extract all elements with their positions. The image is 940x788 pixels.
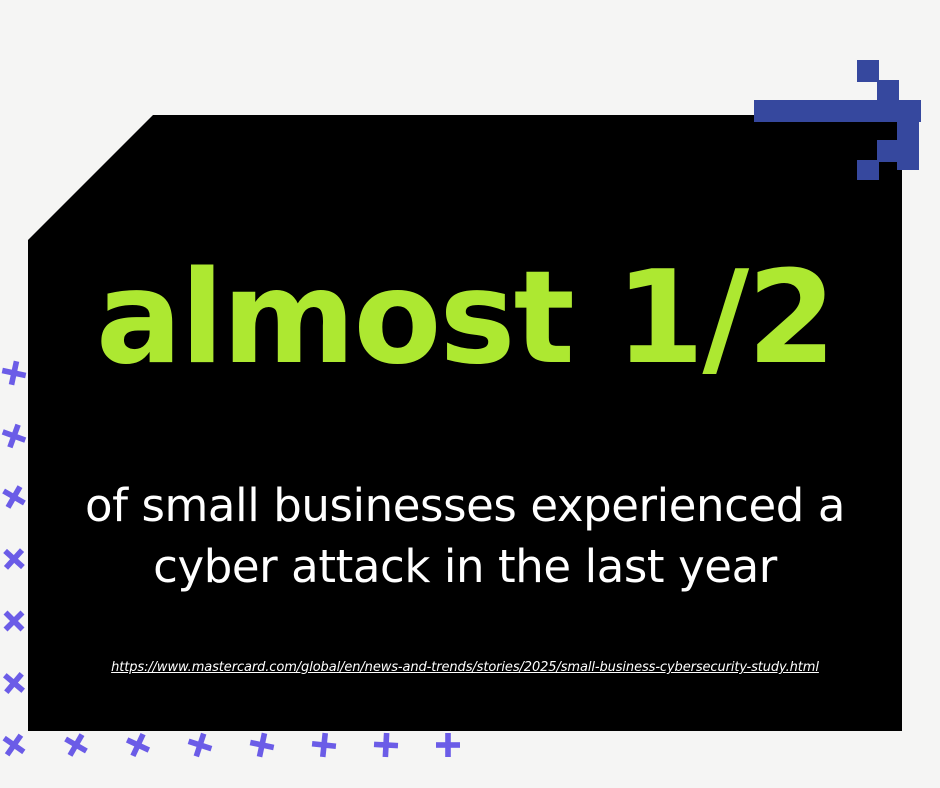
pixel-arrow-svg	[748, 50, 940, 180]
cross-icon	[0, 419, 31, 452]
page-title: almost 1/2	[28, 255, 902, 383]
pixel-arrow-right-icon	[748, 50, 940, 180]
cross-icon	[435, 732, 461, 758]
cross-icon	[0, 727, 32, 763]
stat-card-canvas: almost 1/2 of small businesses experienc…	[0, 0, 940, 788]
pixel-arrow-block	[857, 160, 879, 180]
pixel-arrow-block	[877, 80, 899, 102]
stat-description: of small businesses experienced a cyber …	[73, 475, 857, 597]
cross-icon	[0, 603, 32, 640]
pixel-arrow-block	[857, 60, 879, 82]
source-url-link[interactable]: https://www.mastercard.com/global/en/new…	[28, 660, 902, 675]
cross-icon	[0, 479, 32, 515]
cross-icon	[58, 727, 94, 763]
cross-icon	[121, 728, 156, 763]
cross-icon	[0, 358, 29, 389]
cross-icon	[310, 731, 339, 760]
cross-icon	[184, 729, 217, 762]
pixel-arrow-block	[754, 100, 921, 122]
cross-icon	[247, 730, 278, 761]
cross-icon	[0, 541, 32, 578]
stat-card: almost 1/2 of small businesses experienc…	[28, 115, 902, 731]
cross-icon	[372, 731, 399, 758]
cross-icon	[0, 665, 32, 702]
pixel-arrow-block	[877, 140, 899, 162]
